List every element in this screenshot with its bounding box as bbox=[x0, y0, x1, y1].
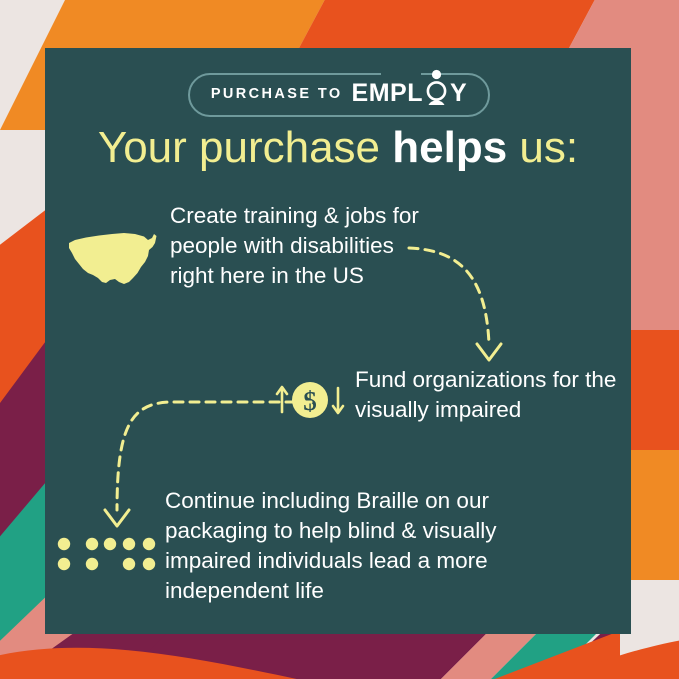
main-card: PURCHASE TO EMPL Y Your purchase helps u… bbox=[45, 48, 631, 634]
purchase-to-employ-badge: PURCHASE TO EMPL Y bbox=[169, 72, 509, 116]
badge-prefix-text: PURCHASE TO bbox=[211, 86, 343, 102]
dashed-arrow-down-right-icon bbox=[403, 232, 533, 372]
badge-wordmark: EMPL Y bbox=[352, 81, 468, 107]
badge-text-row: PURCHASE TO EMPL Y bbox=[169, 72, 509, 116]
headline-part3: us: bbox=[507, 123, 578, 172]
headline-part2: helps bbox=[392, 123, 507, 172]
braille-dots-icon bbox=[55, 530, 160, 578]
person-o-icon bbox=[423, 82, 450, 107]
item-text-fund-organizations: Fund organizations for the visually impa… bbox=[355, 365, 630, 425]
wordmark-pre: EMPL bbox=[352, 79, 423, 107]
headline-part1: Your purchase bbox=[98, 123, 392, 172]
item-text-create-jobs: Create training & jobs for people with d… bbox=[170, 201, 420, 291]
item-text-braille-packaging: Continue including Braille on our packag… bbox=[165, 486, 565, 606]
us-map-icon bbox=[60, 221, 165, 296]
page-title: Your purchase helps us: bbox=[45, 126, 631, 170]
wordmark-post: Y bbox=[450, 79, 467, 107]
infographic-canvas: PURCHASE TO EMPL Y Your purchase helps u… bbox=[0, 0, 679, 679]
